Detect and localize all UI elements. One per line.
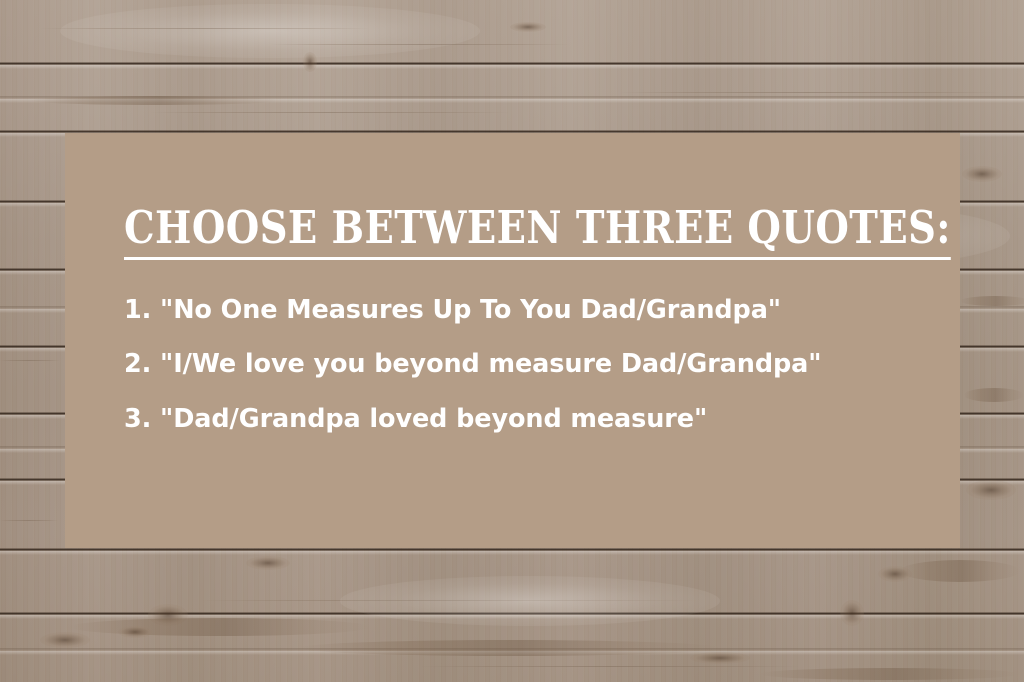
wood-grain-streak [70, 618, 370, 636]
wood-knot [303, 52, 317, 72]
wood-grain-line [0, 360, 60, 361]
wood-grain-line [620, 92, 1000, 93]
screenshot-canvas: CHOOSE BETWEEN THREE QUOTES: 1. "No One … [0, 0, 1024, 682]
plank-seam [0, 548, 1024, 551]
wood-knot [118, 626, 152, 638]
wood-knot [690, 652, 750, 664]
wood-knot [840, 600, 864, 626]
wood-knot [246, 556, 290, 570]
wood-grain-line [40, 28, 370, 29]
quote-option-2[interactable]: 2. "I/We love you beyond measure Dad/Gra… [124, 352, 924, 378]
wood-grain-streak [900, 560, 1020, 582]
wood-knot [966, 480, 1016, 500]
wood-grain-streak [300, 640, 720, 656]
wood-grain-streak [960, 296, 1024, 306]
wood-knot [40, 632, 90, 648]
quote-options-list: 1. "No One Measures Up To You Dad/Grandp… [124, 298, 924, 433]
wood-grain-line [0, 520, 58, 521]
wood-light-wash [340, 576, 720, 626]
wood-knot [962, 166, 1002, 182]
wood-grain-line [420, 666, 800, 667]
wood-light-wash [60, 4, 480, 58]
wood-grain-streak [30, 96, 280, 105]
wood-grain-streak [964, 388, 1024, 402]
wood-grain-line [150, 112, 510, 113]
quote-option-3[interactable]: 3. "Dad/Grandpa loved beyond measure" [124, 407, 924, 433]
plank-seam [0, 62, 1024, 65]
wood-knot [510, 22, 546, 32]
wood-grain-line [270, 44, 570, 45]
quote-option-1[interactable]: 1. "No One Measures Up To You Dad/Grandp… [124, 298, 924, 324]
quote-content-block: CHOOSE BETWEEN THREE QUOTES: 1. "No One … [124, 205, 924, 432]
wood-grain-streak [760, 668, 1020, 680]
page-title: CHOOSE BETWEEN THREE QUOTES: [124, 205, 951, 260]
